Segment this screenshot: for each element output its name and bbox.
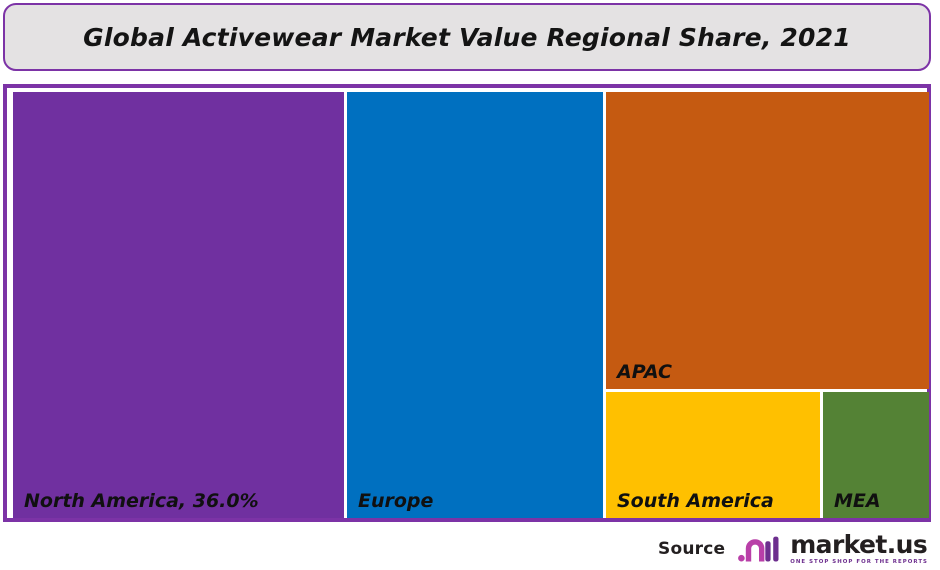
treemap-tile-south-america[interactable]: South America <box>606 392 820 518</box>
chart-title-banner: Global Activewear Market Value Regional … <box>3 3 931 71</box>
treemap-tile-label-apac: APAC <box>617 363 672 383</box>
market-us-logo[interactable]: market.us ONE STOP SHOP FOR THE REPORTS <box>738 533 928 565</box>
logo-wordmark: market.us <box>790 533 928 557</box>
logo-text-block: market.us ONE STOP SHOP FOR THE REPORTS <box>790 533 928 565</box>
source-label: Source <box>658 539 725 559</box>
page-title: Global Activewear Market Value Regional … <box>83 23 851 52</box>
treemap-tile-north-america[interactable]: North America, 36.0% <box>13 92 344 518</box>
treemap-tile-label-south-america: South America <box>617 492 774 512</box>
treemap-tile-apac[interactable]: APAC <box>606 92 929 389</box>
treemap-tile-label-europe: Europe <box>358 492 433 512</box>
treemap-plot-area: North America, 36.0% Europe APAC South A… <box>7 88 935 526</box>
treemap-tile-label-north-america: North America, 36.0% <box>24 492 259 512</box>
market-us-bars-logo-icon <box>738 534 784 564</box>
treemap-chart-frame: North America, 36.0% Europe APAC South A… <box>3 84 931 522</box>
footer-bar: Source market.us ONE STOP SHOP FOR THE R… <box>0 528 940 570</box>
treemap-tile-mea[interactable]: MEA <box>823 392 929 518</box>
infographic-canvas: Global Activewear Market Value Regional … <box>0 0 940 570</box>
treemap-tile-label-mea: MEA <box>834 492 881 512</box>
treemap-tile-europe[interactable]: Europe <box>347 92 603 518</box>
logo-tagline: ONE STOP SHOP FOR THE REPORTS <box>790 559 928 565</box>
